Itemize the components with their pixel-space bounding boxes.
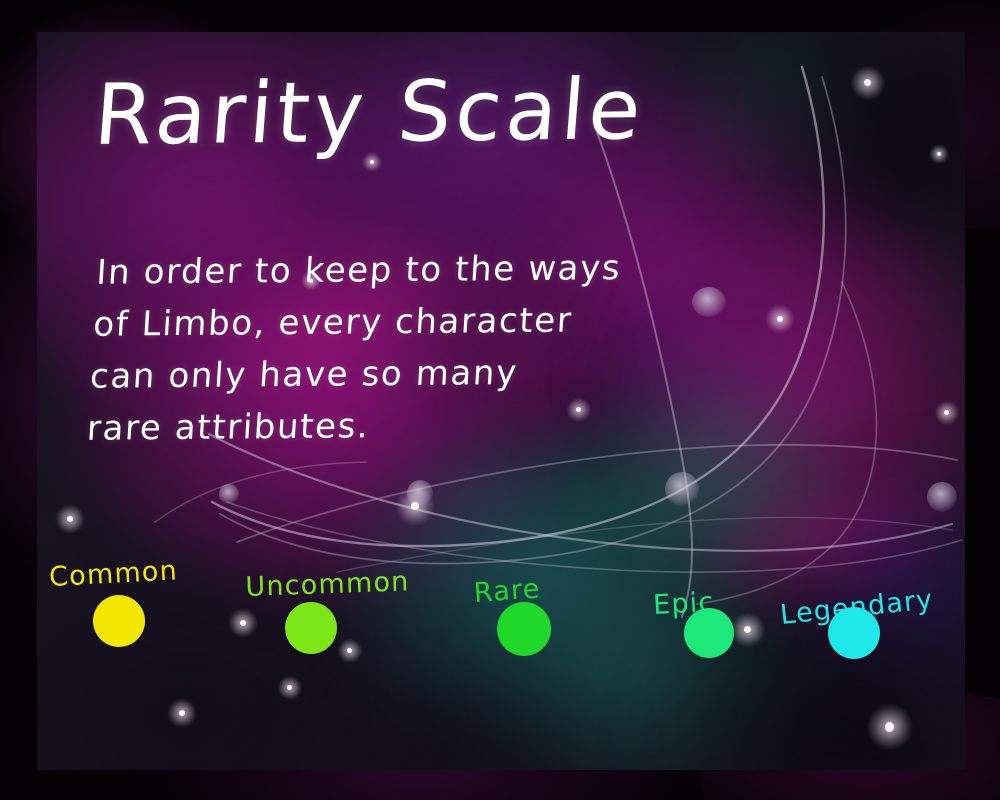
star-particle <box>287 685 292 690</box>
bokeh-glow <box>407 480 433 506</box>
star-particle <box>744 626 751 633</box>
star-particle <box>944 410 949 415</box>
star-particle <box>411 502 419 510</box>
star-particle <box>937 152 941 156</box>
nebula-shadow <box>267 642 627 770</box>
star-particle <box>777 316 783 322</box>
rarity-label-uncommon: Uncommon <box>245 566 410 603</box>
body-line: rare attributes. <box>85 397 709 454</box>
star-particle <box>179 710 185 716</box>
nebula-blob <box>647 32 907 192</box>
bokeh-glow <box>927 482 957 512</box>
star-particle <box>347 648 352 653</box>
page-title: Rarity Scale <box>91 65 647 159</box>
rarity-label-common: Common <box>48 555 178 593</box>
star-particle <box>240 620 246 626</box>
rarity-dot-epic[interactable] <box>684 608 734 658</box>
body-line: of Limbo, every character <box>92 293 716 350</box>
rarity-dot-common[interactable] <box>93 595 145 647</box>
body-line: In order to keep to the ways <box>95 241 719 298</box>
rarity-dot-legendary[interactable] <box>828 607 880 659</box>
star-particle <box>67 516 73 522</box>
body-line: can only have so many <box>89 345 713 402</box>
rarity-dot-rare[interactable] <box>497 602 551 656</box>
poster-frame: Rarity Scale In order to keep to the way… <box>0 0 1000 800</box>
bokeh-glow <box>665 472 699 506</box>
bokeh-glow <box>219 484 239 504</box>
artwork-canvas: Rarity Scale In order to keep to the way… <box>37 32 965 770</box>
star-particle <box>864 79 871 86</box>
star-particle <box>885 722 894 732</box>
nebula-shadow <box>697 32 965 242</box>
rarity-dot-uncommon[interactable] <box>285 602 337 654</box>
body-text: In order to keep to the ways of Limbo, e… <box>85 241 718 454</box>
